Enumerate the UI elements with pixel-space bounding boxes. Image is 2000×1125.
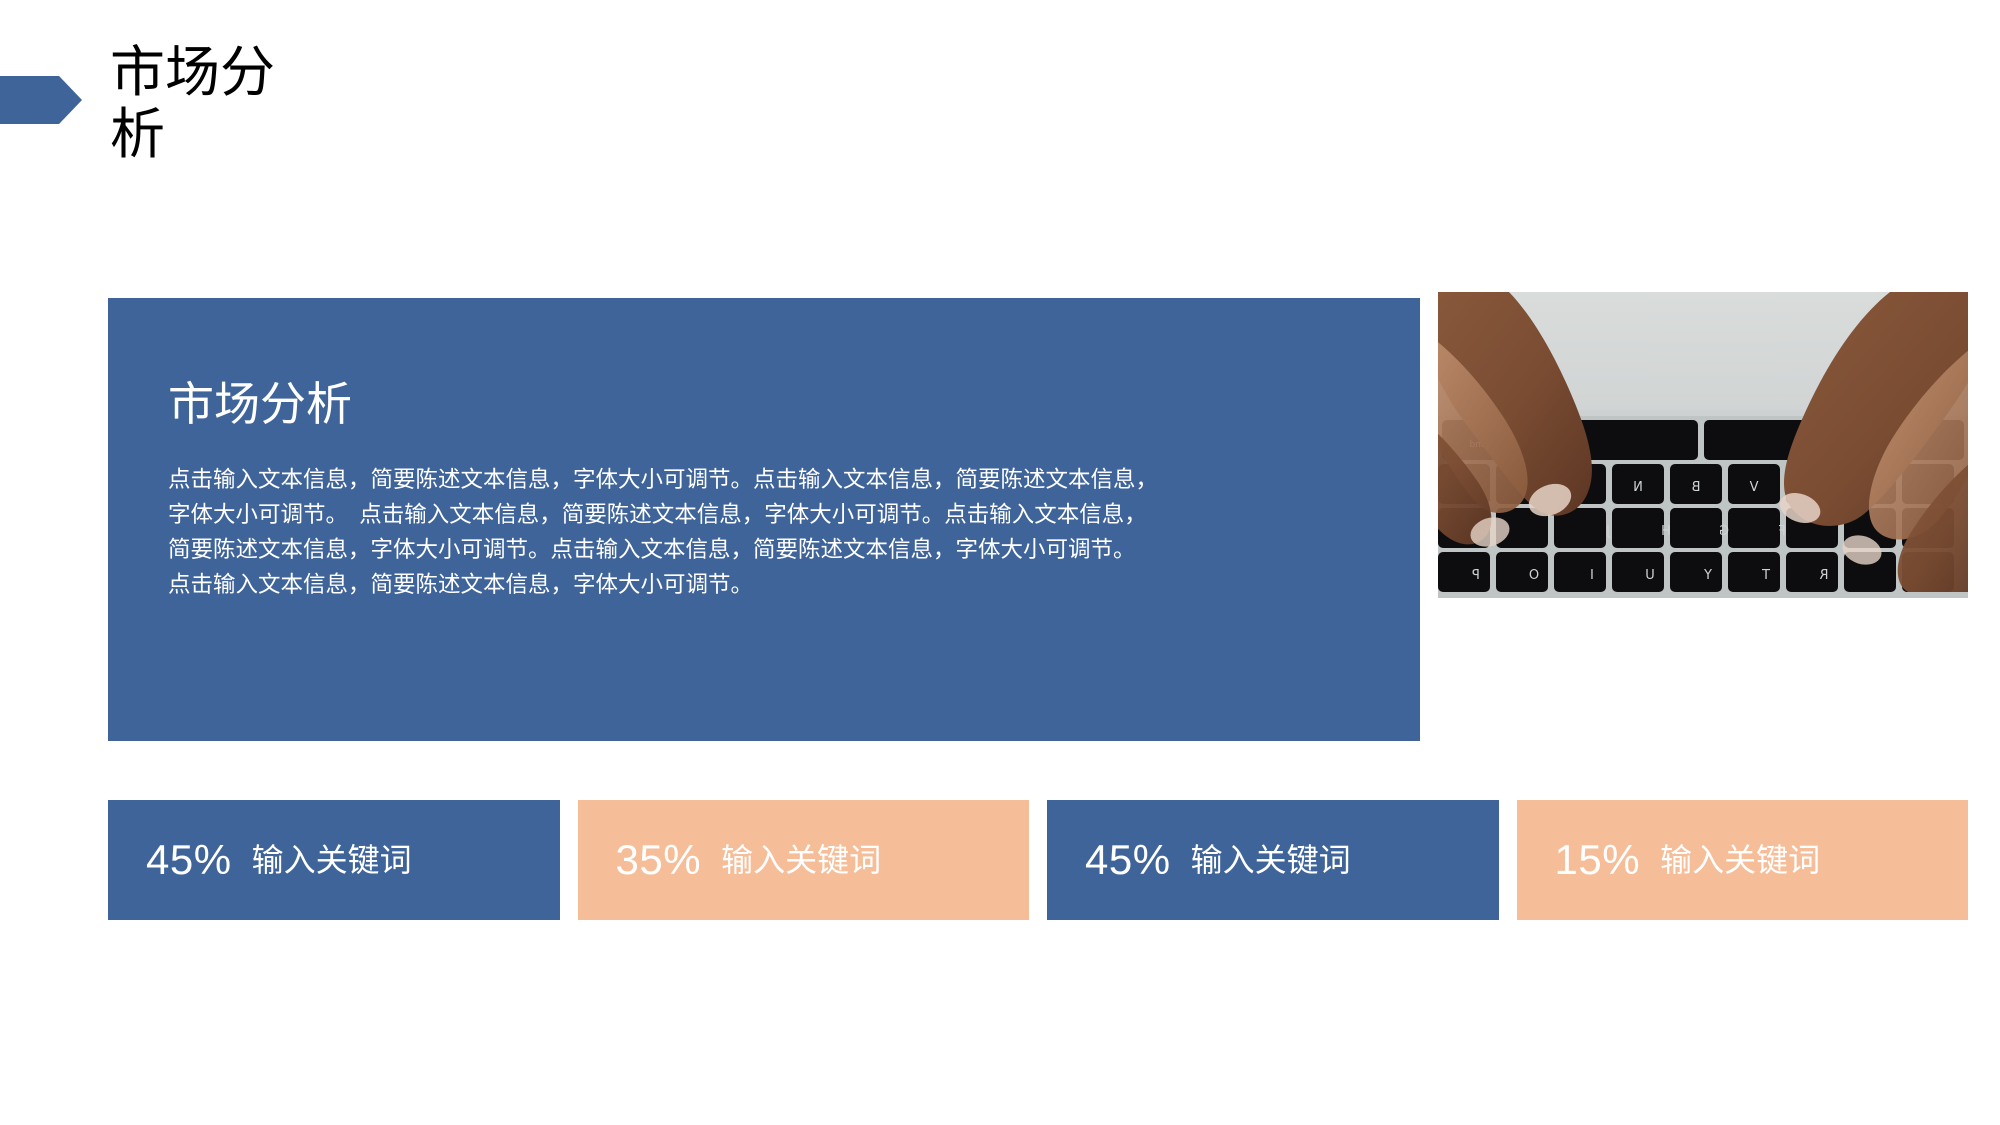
page-title: 市场分析: [110, 42, 290, 165]
svg-text:U: U: [1645, 568, 1655, 583]
stat-percent: 15%: [1555, 839, 1641, 881]
stat-bar-row: 45% 输入关键词 35% 输入关键词 45% 输入关键词 15% 输入关键词: [108, 800, 1968, 920]
arrow-marker-icon: [0, 76, 82, 124]
stat-label: 输入关键词: [1191, 844, 1351, 876]
svg-text:F: F: [1778, 524, 1785, 539]
svg-text:O: O: [1529, 568, 1539, 583]
panel-body-line: 点击输入文本信息，简要陈述文本信息，字体大小可调节。: [168, 568, 1278, 603]
svg-text:H: H: [1661, 524, 1671, 539]
stat-percent: 35%: [616, 839, 702, 881]
svg-text:N: N: [1633, 480, 1643, 495]
panel-body-line: 点击输入文本信息，简要陈述文本信息，字体大小可调节。点击输入文本信息，简要陈述文…: [168, 463, 1278, 498]
svg-text:R: R: [1819, 568, 1828, 583]
stat-label: 输入关键词: [252, 844, 412, 876]
svg-text:G: G: [1719, 524, 1729, 539]
svg-text:B: B: [1692, 480, 1701, 495]
svg-text:I: I: [1590, 568, 1594, 583]
panel-body-line: 简要陈述文本信息，字体大小可调节。点击输入文本信息，简要陈述文本信息，字体大小可…: [168, 533, 1278, 568]
panel-body-text: 点击输入文本信息，简要陈述文本信息，字体大小可调节。点击输入文本信息，简要陈述文…: [168, 463, 1278, 603]
stat-percent: 45%: [1085, 839, 1171, 881]
stat-card-3[interactable]: 45% 输入关键词: [1047, 800, 1499, 920]
stat-label: 输入关键词: [721, 844, 881, 876]
keyboard-photo: M N B V C J H G F P O I U Y T R command: [1438, 292, 1968, 598]
panel-body-line: 字体大小可调节。 点击输入文本信息，简要陈述文本信息，字体大小可调节。点击输入文…: [168, 498, 1278, 533]
stat-card-1[interactable]: 45% 输入关键词: [108, 800, 560, 920]
svg-text:Y: Y: [1704, 568, 1713, 583]
content-panel: 市场分析 点击输入文本信息，简要陈述文本信息，字体大小可调节。点击输入文本信息，…: [108, 298, 1420, 741]
stat-percent: 45%: [146, 839, 232, 881]
keyboard-photo-illustration: M N B V C J H G F P O I U Y T R command: [1438, 292, 1968, 598]
slide-canvas: 市场分析 市场分析 点击输入文本信息，简要陈述文本信息，字体大小可调节。点击输入…: [0, 0, 2000, 1125]
stat-label: 输入关键词: [1660, 844, 1820, 876]
svg-text:J: J: [1606, 524, 1611, 539]
slide-title-block: 市场分析: [0, 42, 420, 202]
svg-text:V: V: [1749, 480, 1758, 495]
svg-text:P: P: [1472, 568, 1480, 583]
svg-text:T: T: [1762, 568, 1771, 583]
stat-card-2[interactable]: 35% 输入关键词: [578, 800, 1030, 920]
panel-heading: 市场分析: [168, 378, 353, 431]
stat-card-4[interactable]: 15% 输入关键词: [1517, 800, 1969, 920]
